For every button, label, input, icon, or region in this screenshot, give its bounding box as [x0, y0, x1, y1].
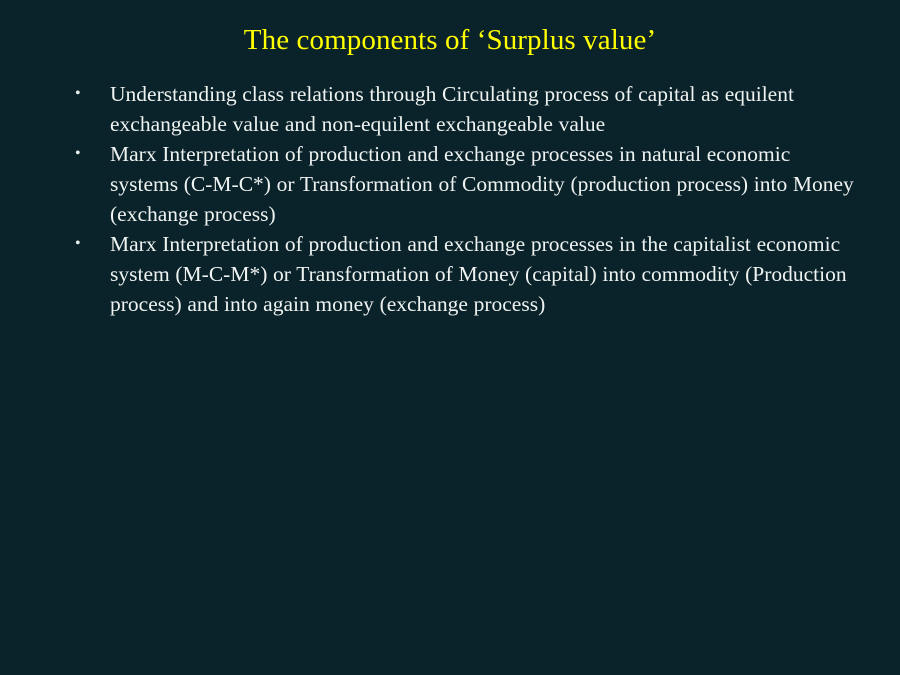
bullet-item-2: • Marx Interpretation of production and … — [0, 139, 900, 229]
presentation-slide: The components of ‘Surplus value’ • Unde… — [0, 0, 900, 675]
bullet-point-icon: • — [75, 139, 87, 169]
bullet-item-1: • Understanding class relations through … — [0, 79, 900, 139]
bullet-list: • Understanding class relations through … — [0, 79, 900, 319]
bullet-item-3: • Marx Interpretation of production and … — [0, 229, 900, 319]
bullet-item-3-text: Marx Interpretation of production and ex… — [110, 229, 860, 319]
bullet-point-icon: • — [75, 79, 87, 109]
bullet-item-1-text: Understanding class relations through Ci… — [110, 79, 860, 139]
bullet-point-icon: • — [75, 229, 87, 259]
bullet-item-2-text: Marx Interpretation of production and ex… — [110, 139, 860, 229]
slide-title: The components of ‘Surplus value’ — [0, 22, 900, 58]
